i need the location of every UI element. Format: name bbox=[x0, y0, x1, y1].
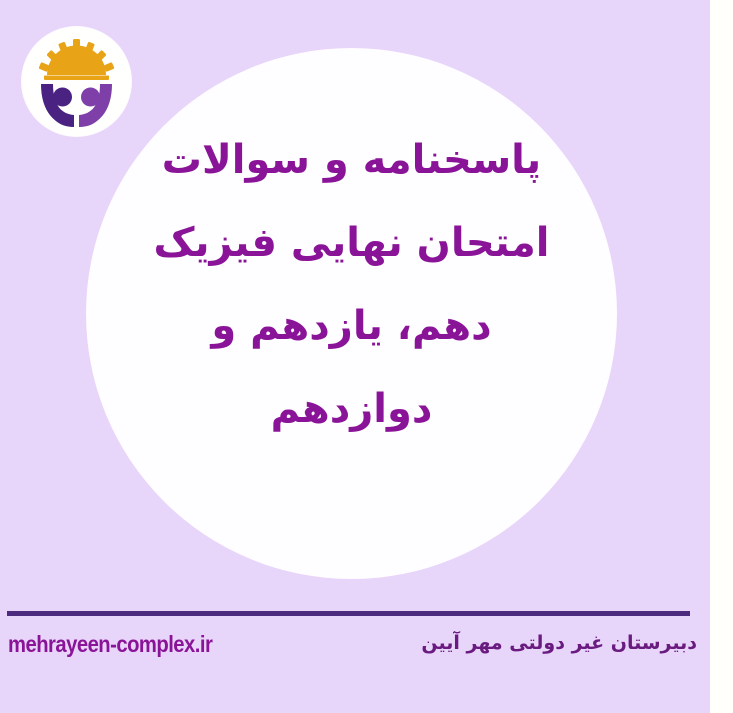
logo-svg bbox=[22, 27, 131, 136]
headline-line-4: دوازدهم bbox=[86, 389, 617, 429]
website-url[interactable]: mehrayeen-complex.ir bbox=[8, 631, 212, 658]
mehrayeen-school-logo bbox=[22, 27, 131, 136]
school-name: دبیرستان غیر دولتی مهر آیین bbox=[421, 632, 697, 654]
headline-line-3: دهم، یازدهم و bbox=[86, 306, 617, 346]
footer-divider bbox=[7, 611, 690, 616]
right-edge-strip bbox=[710, 0, 733, 713]
poster-canvas: پاسخنامه و سوالات امتحان نهایی فیزیک دهم… bbox=[0, 0, 733, 713]
headline-line-2: امتحان نهایی فیزیک bbox=[86, 223, 617, 263]
headline-line-1: پاسخنامه و سوالات bbox=[86, 140, 617, 180]
headline-block: پاسخنامه و سوالات امتحان نهایی فیزیک دهم… bbox=[86, 140, 617, 429]
